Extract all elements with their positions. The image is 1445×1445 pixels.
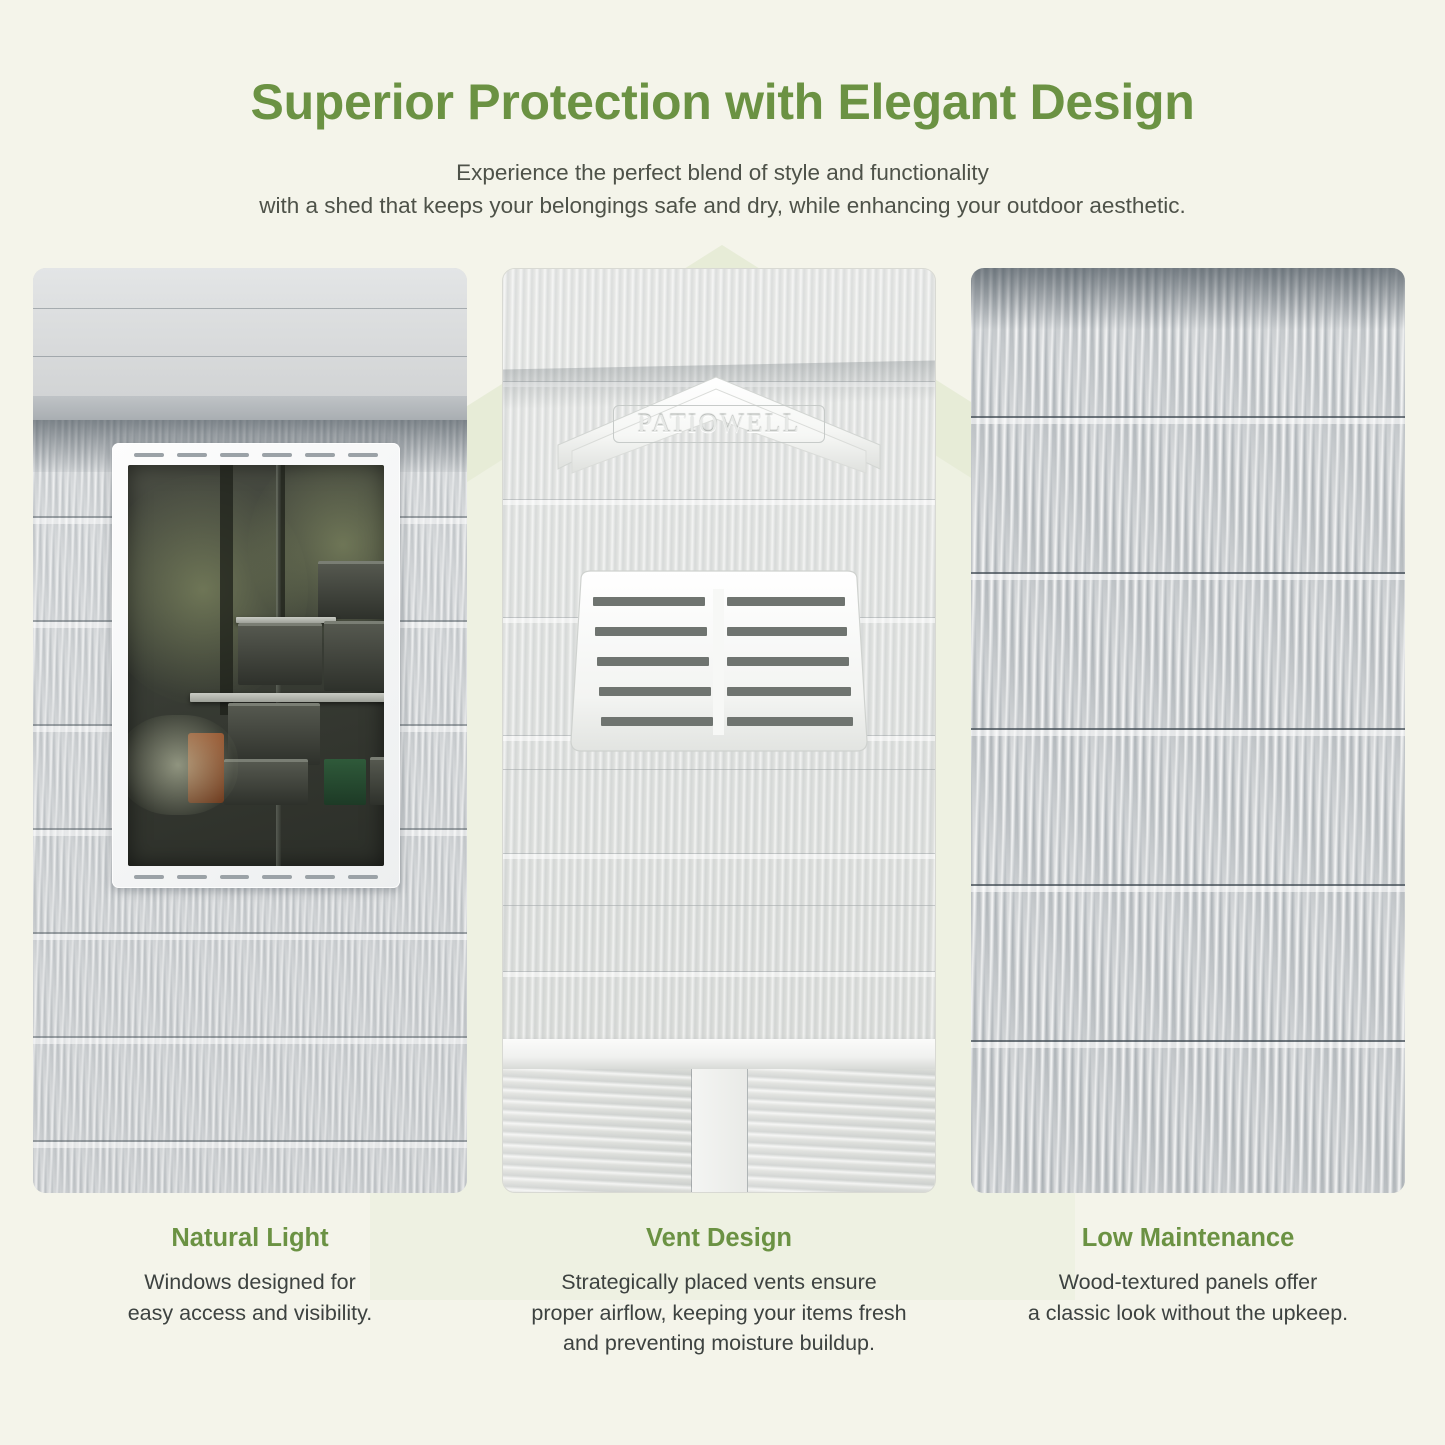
storage-bin: [318, 561, 384, 619]
storage-bin: [228, 703, 320, 765]
subtitle-line-1: Experience the perfect blend of style an…: [456, 160, 989, 185]
vertical-panel: [503, 1069, 692, 1192]
glass-reflection-bush: [128, 715, 238, 815]
green-box: [324, 759, 366, 805]
caption-body: Windows designed for easy access and vis…: [33, 1267, 467, 1328]
storage-bin: [324, 621, 384, 691]
caption-line-3: and preventing moisture buildup.: [563, 1331, 875, 1355]
wood-textured-panels: [971, 268, 1405, 1193]
subtitle-line-2: with a shed that keeps your belongings s…: [259, 193, 1185, 218]
caption-line-2: a classic look without the upkeep.: [1028, 1301, 1348, 1325]
interior-shelf: [236, 617, 336, 623]
roof-soffit: [33, 268, 467, 396]
caption-body: Wood-textured panels offer a classic loo…: [971, 1267, 1405, 1328]
page-title: Superior Protection with Elegant Design: [0, 74, 1445, 130]
window-bottom-vent-slots: [134, 875, 378, 879]
caption-body: Strategically placed vents ensure proper…: [502, 1267, 936, 1359]
feature-card-vent-design: PATIOWELL: [502, 268, 936, 1359]
caption-line-1: Strategically placed vents ensure: [561, 1270, 877, 1294]
feature-cards-row: Natural Light Windows designed for easy …: [0, 268, 1445, 1359]
wood-texture-photo: [971, 268, 1405, 1193]
caption-title: Natural Light: [33, 1223, 467, 1254]
promo-page: Superior Protection with Elegant Design …: [0, 0, 1445, 1445]
storage-bin: [238, 623, 322, 685]
page-subtitle: Experience the perfect blend of style an…: [0, 156, 1445, 223]
caption-line-2: easy access and visibility.: [128, 1301, 373, 1325]
shed-vent-photo: PATIOWELL: [502, 268, 936, 1193]
caption-vent-design: Vent Design Strategically placed vents e…: [502, 1223, 936, 1359]
window-frame: [112, 443, 400, 888]
glass-reflection-trunk: [220, 465, 233, 715]
panel-seam: [503, 769, 935, 771]
louvered-vent: [567, 569, 871, 754]
panel-seam: [503, 905, 935, 907]
storage-bin: [370, 757, 384, 805]
interior-shelf: [190, 693, 384, 702]
caption-line-1: Wood-textured panels offer: [1059, 1270, 1318, 1294]
caption-low-maintenance: Low Maintenance Wood-textured panels off…: [971, 1223, 1405, 1329]
top-shadow: [971, 268, 1405, 330]
window-glass: [128, 465, 384, 866]
caption-title: Vent Design: [502, 1223, 936, 1254]
vertical-panel: [692, 1069, 748, 1192]
caption-line-1: Windows designed for: [144, 1270, 356, 1294]
brand-name: PATIOWELL: [637, 409, 800, 439]
vertical-panel: [748, 1069, 936, 1192]
caption-line-2: proper airflow, keeping your items fresh: [531, 1301, 906, 1325]
horizontal-trim: [503, 1039, 935, 1069]
vertical-panel-row: [503, 1069, 935, 1192]
window-top-vent-slots: [134, 453, 378, 457]
feature-card-natural-light: Natural Light Windows designed for easy …: [33, 268, 467, 1359]
page-header: Superior Protection with Elegant Design …: [0, 0, 1445, 223]
shed-window-photo: [33, 268, 467, 1193]
caption-title: Low Maintenance: [971, 1223, 1405, 1254]
brand-badge: PATIOWELL: [613, 405, 825, 443]
feature-card-low-maintenance: Low Maintenance Wood-textured panels off…: [971, 268, 1405, 1359]
roof-fascia: [33, 396, 467, 420]
caption-natural-light: Natural Light Windows designed for easy …: [33, 1223, 467, 1329]
